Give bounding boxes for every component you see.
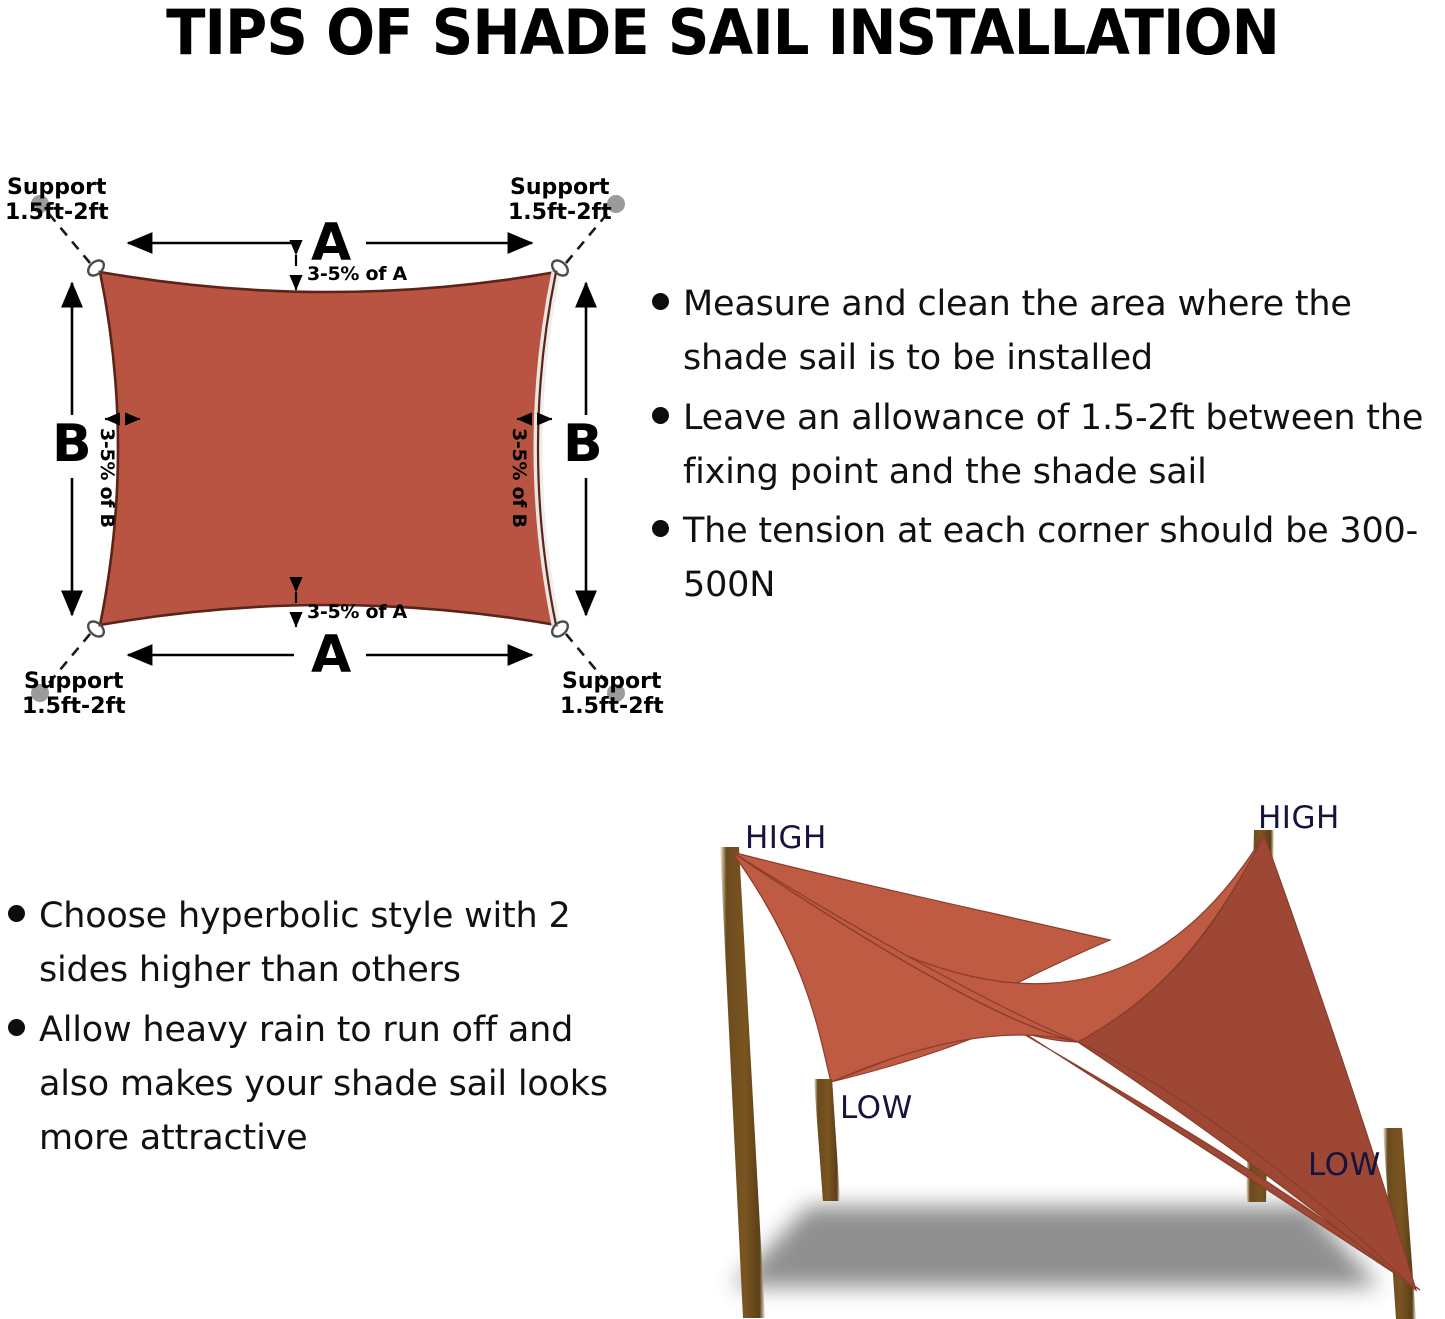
dimension-note-b-left: 3-5% of B	[96, 428, 118, 528]
support-label-top-left: Support 1.5ft-2ft	[5, 175, 109, 225]
tips-list-right: Measure and clean the area where the sha…	[652, 277, 1445, 618]
list-item: Choose hyperbolic style with 2 sides hig…	[8, 889, 633, 998]
bullet-icon	[652, 293, 669, 310]
list-item-text: The tension at each corner should be 300…	[683, 504, 1445, 613]
dimension-letter-b-right: B	[563, 418, 603, 470]
list-item: Measure and clean the area where the sha…	[652, 277, 1445, 386]
dimension-letter-a-top: A	[311, 217, 351, 269]
rectangular-shade-sail-dimension-diagram: Support 1.5ft-2ft Support 1.5ft-2ft Supp…	[0, 160, 650, 720]
list-item-text: Allow heavy rain to run off and also mak…	[39, 1003, 633, 1166]
bullet-icon	[8, 1019, 25, 1036]
support-label-bottom-right: Support 1.5ft-2ft	[560, 669, 664, 719]
dimension-letter-a-bottom: A	[311, 629, 351, 681]
dimension-note-b-right: 3-5% of B	[508, 428, 530, 528]
post-label-high-right: HIGH	[1258, 800, 1340, 836]
list-item: Allow heavy rain to run off and also mak…	[8, 1003, 633, 1166]
post-high-left	[720, 847, 765, 1318]
post-label-low-left: LOW	[840, 1090, 913, 1126]
list-item: Leave an allowance of 1.5-2ft between th…	[652, 391, 1445, 500]
list-item-text: Leave an allowance of 1.5-2ft between th…	[683, 391, 1445, 500]
bullet-icon	[652, 520, 669, 537]
hyperbolic-shade-sail-illustration: HIGH HIGH LOW LOW	[680, 790, 1445, 1319]
dimension-letter-b-left: B	[52, 418, 92, 470]
sail-shape	[100, 272, 556, 625]
dimension-note-a-top: 3-5% of A	[307, 263, 407, 285]
list-item-text: Measure and clean the area where the sha…	[683, 277, 1445, 386]
ground-shadow	[732, 1206, 1380, 1287]
post-low-left-front	[814, 1079, 840, 1201]
bullet-icon	[8, 905, 25, 922]
post-label-high-left: HIGH	[745, 820, 827, 856]
list-item-text: Choose hyperbolic style with 2 sides hig…	[39, 889, 633, 998]
bullet-icon	[652, 407, 669, 424]
dimension-note-a-bottom: 3-5% of A	[307, 601, 407, 623]
post-label-low-right: LOW	[1308, 1147, 1381, 1183]
page-title: TIPS OF SHADE SAIL INSTALLATION	[51, 0, 1395, 69]
support-label-bottom-left: Support 1.5ft-2ft	[22, 669, 126, 719]
tips-list-left: Choose hyperbolic style with 2 sides hig…	[8, 889, 633, 1170]
hypar-diagram-svg	[680, 790, 1445, 1319]
list-item: The tension at each corner should be 300…	[652, 504, 1445, 613]
support-label-top-right: Support 1.5ft-2ft	[508, 175, 612, 225]
